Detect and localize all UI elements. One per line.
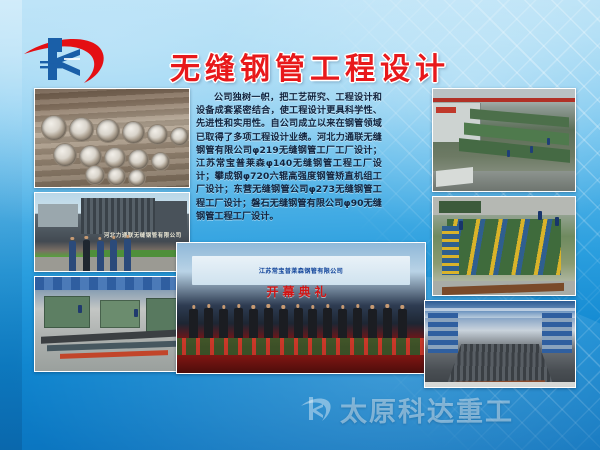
ceremony-banner-text: 江苏常宝普莱森钢管有限公司 (259, 266, 343, 275)
watermark-text: 太原科达重工 (340, 390, 514, 429)
left-edge-gradient-bar (0, 0, 22, 450)
kd-company-logo (22, 28, 114, 90)
equipment-assembly-shop-photo (432, 88, 576, 192)
pipe-mill-machinery-photo (34, 276, 190, 372)
ceremony-red-characters: 开幕典礼 (222, 282, 376, 302)
kd-watermark-mark (300, 392, 334, 426)
seamless-steel-pipes-photo (34, 88, 190, 188)
body-paragraph: 公司独树一帜，把工艺研究、工程设计和设备成套紧密结合，使工程设计更具科学性、先进… (196, 92, 382, 224)
opening-ceremony-photo: 江苏常宝普莱森钢管有限公司 开幕典礼 (176, 242, 426, 374)
roller-units-yard-photo (432, 196, 576, 296)
finished-pipe-warehouse-photo (424, 300, 576, 388)
page-title: 无缝钢管工程设计 (130, 44, 490, 88)
factory-entrance-team-photo: 河北力通联无缝钢管有限公司 (34, 192, 190, 272)
corporate-watermark: 太原科达重工 (300, 386, 600, 432)
ceremony-banner: 江苏常宝普莱森钢管有限公司 (192, 256, 410, 285)
slide-canvas: 无缝钢管工程设计 公司独树一帜，把工艺研究、工程设计和设备成套紧密结合，使工程设… (0, 0, 600, 450)
